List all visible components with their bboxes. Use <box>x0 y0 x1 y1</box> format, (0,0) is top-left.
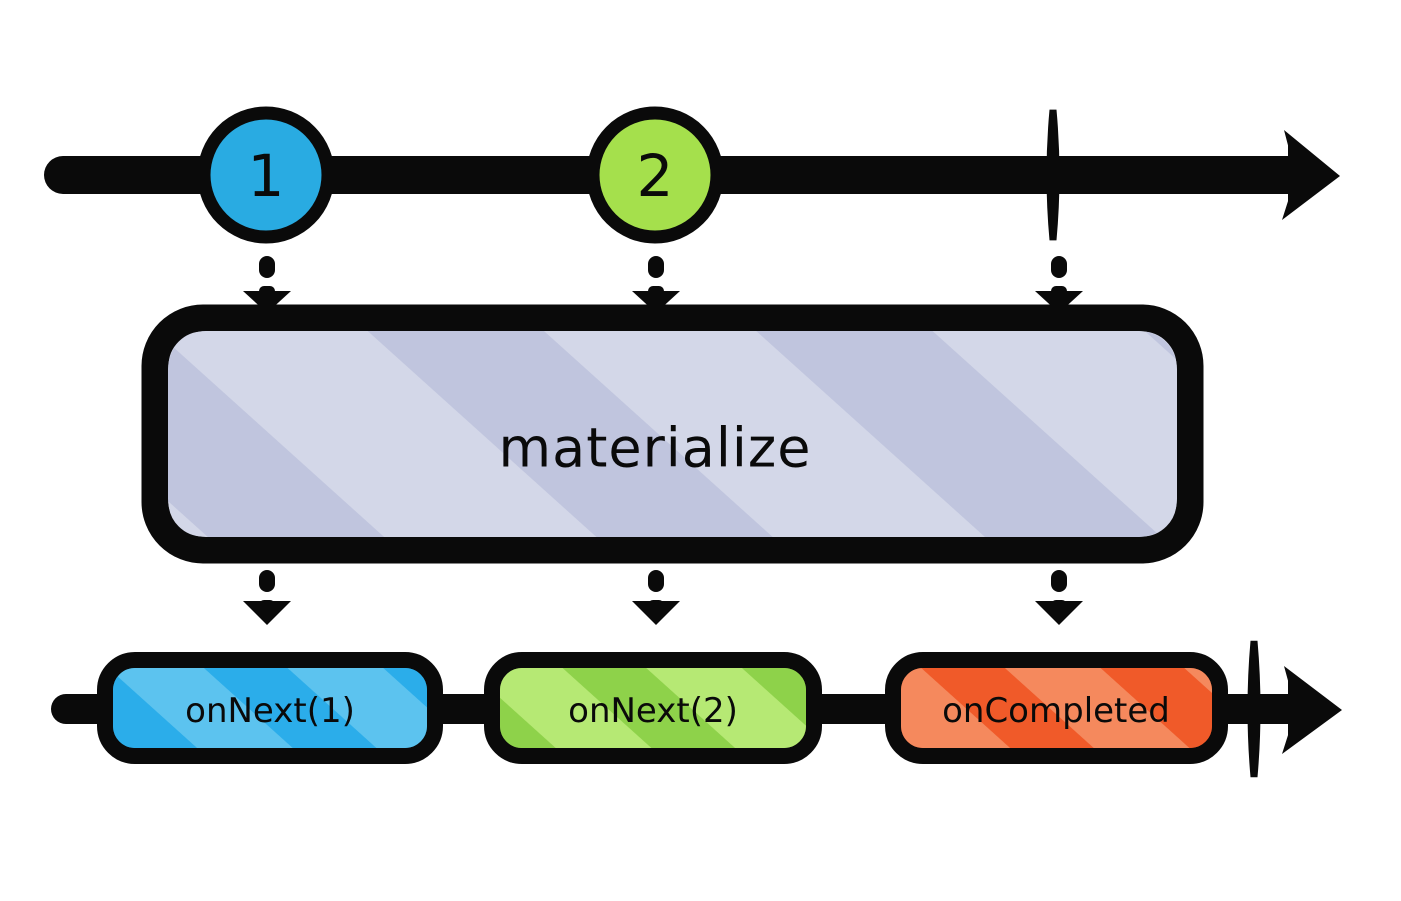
operator-label: materialize <box>499 417 812 480</box>
notification-box-oncompleted[interactable]: onCompleted <box>893 660 1220 756</box>
source-marble-1[interactable]: 1 <box>204 113 328 237</box>
notification-box-onnext-2[interactable]: onNext(2) <box>492 660 814 756</box>
marble-diagram-svg: 1 2 <box>0 0 1401 901</box>
notification-label: onCompleted <box>942 691 1170 731</box>
result-completion-tick <box>1251 641 1257 777</box>
connector-arrows-in <box>243 256 1083 313</box>
notification-label: onNext(2) <box>568 691 738 731</box>
notification-box-onnext-1[interactable]: onNext(1) <box>105 660 435 756</box>
connector-arrow-in-2 <box>632 256 680 313</box>
connector-arrow-out-1 <box>243 570 291 625</box>
marble-diagram-canvas: 1 2 <box>0 0 1401 901</box>
connector-arrows-out <box>243 570 1083 625</box>
connector-arrow-out-3 <box>1035 570 1083 625</box>
source-marble-2[interactable]: 2 <box>593 113 717 237</box>
source-observable-timeline: 1 2 <box>44 110 1340 240</box>
source-completion-tick <box>1050 110 1056 240</box>
result-observable-timeline: onNext(1) onNext(2) onCompleted <box>51 641 1342 777</box>
notification-label: onNext(1) <box>185 691 355 731</box>
connector-arrow-in-complete <box>1035 256 1083 313</box>
connector-arrow-out-2 <box>632 570 680 625</box>
marble-value-label: 1 <box>248 142 285 210</box>
connector-arrow-in-1 <box>243 256 291 313</box>
materialize-operator[interactable]: materialize <box>155 318 1190 550</box>
marble-value-label: 2 <box>637 142 674 210</box>
